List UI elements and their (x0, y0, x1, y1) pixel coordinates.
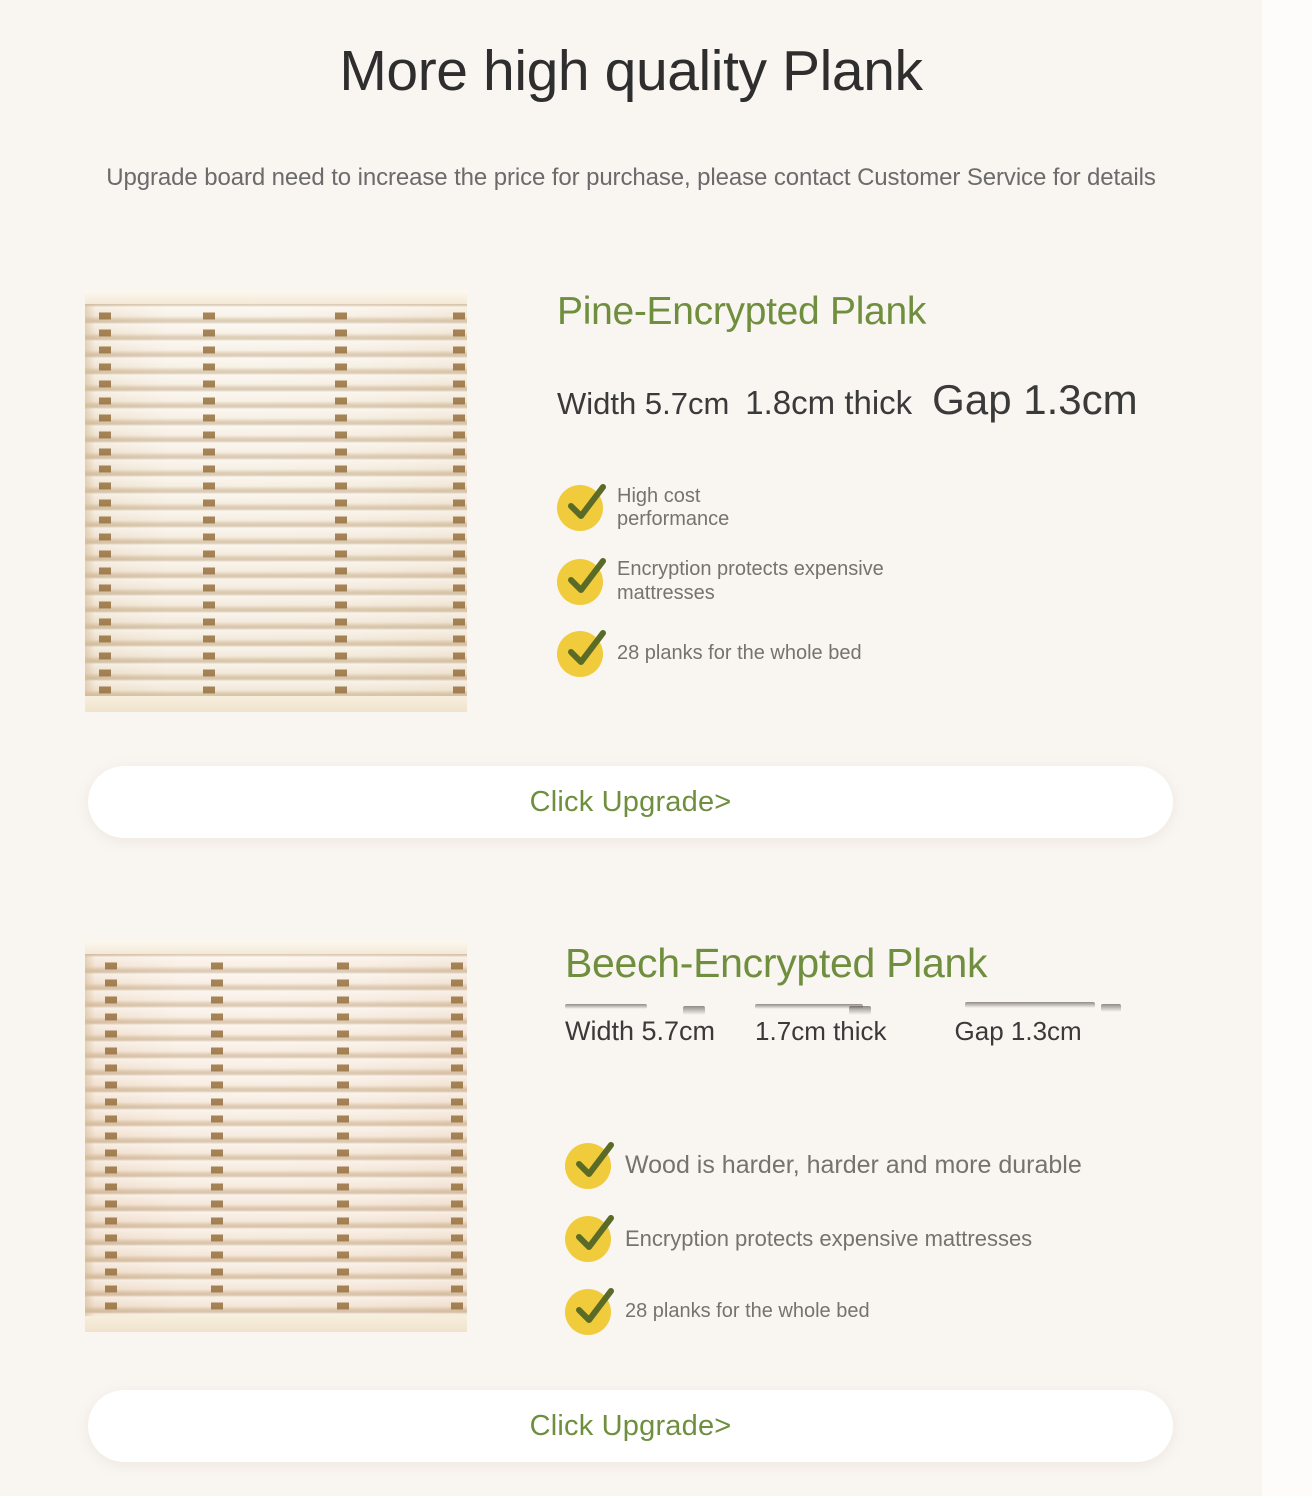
feature-list-beech: Wood is harder, harder and more durable … (565, 1143, 1265, 1335)
product-detail-page: More high quality Plank Upgrade board ne… (0, 0, 1312, 1496)
check-circle-icon (565, 1289, 611, 1335)
check-circle-icon (565, 1216, 611, 1262)
product-info-pine: Pine-Encrypted Plank Width 5.7cm 1.8cm t… (557, 290, 1257, 703)
plank-photo-beech (85, 940, 467, 1332)
spec-width: Width 5.7cm (565, 1016, 715, 1047)
spec-thickness: 1.8cm thick (745, 384, 912, 422)
spec-thickness: 1.7cm thick (755, 1016, 887, 1047)
plank-strap (451, 940, 463, 1332)
plank-bottom-edge (85, 1316, 467, 1332)
click-upgrade-button-beech[interactable]: Click Upgrade> (88, 1390, 1173, 1462)
feature-item: 28 planks for the whole bed (557, 631, 1257, 677)
plank-strap (337, 940, 349, 1332)
check-circle-icon (557, 631, 603, 677)
feature-item: Encryption protects expensive mattresses (557, 558, 1257, 605)
plank-left-edge (85, 940, 95, 1332)
product-info-beech: Beech-Encrypted Plank Width 5.7cm 1.7cm … (565, 940, 1265, 1362)
page-title: More high quality Plank (0, 40, 1262, 103)
product-title-beech: Beech-Encrypted Plank (565, 940, 1265, 987)
feature-item: Encryption protects expensive mattresses (565, 1216, 1265, 1262)
feature-text: High cost performance (617, 485, 767, 532)
check-circle-icon (557, 485, 603, 531)
spec-row-pine: Width 5.7cm 1.8cm thick Gap 1.3cm (557, 376, 1257, 424)
check-circle-icon (565, 1143, 611, 1189)
check-circle-icon (557, 559, 603, 605)
plank-slats (85, 290, 467, 712)
feature-item: 28 planks for the whole bed (565, 1289, 1265, 1335)
feature-text: Wood is harder, harder and more durable (625, 1151, 1082, 1181)
feature-text: 28 planks for the whole bed (625, 1300, 870, 1324)
plank-bottom-edge (85, 696, 467, 712)
feature-text: Encryption protects expensive mattresses (625, 1226, 1032, 1252)
spec-width: Width 5.7cm (557, 386, 729, 422)
plank-strap (99, 290, 111, 712)
plank-strap (335, 290, 347, 712)
page-subtitle: Upgrade board need to increase the price… (0, 164, 1262, 193)
spec-row-beech: Width 5.7cm 1.7cm thick Gap 1.3cm (565, 1016, 1265, 1047)
plank-left-edge (85, 290, 95, 712)
feature-text: Encryption protects expensive mattresses (617, 558, 917, 605)
spec-gap: Gap 1.3cm (955, 1016, 1082, 1047)
plank-slab (85, 290, 467, 712)
plank-top-edge (85, 940, 467, 954)
feature-item: High cost performance (557, 485, 1257, 532)
plank-strap (203, 290, 215, 712)
plank-photo-pine (85, 290, 467, 712)
plank-strap (453, 290, 465, 712)
feature-text: 28 planks for the whole bed (617, 642, 862, 666)
feature-list-pine: High cost performance Encryption protect… (557, 485, 1257, 677)
plank-slats (85, 940, 467, 1332)
plank-strap (211, 940, 223, 1332)
plank-slab (85, 940, 467, 1332)
page-right-margin (1262, 0, 1312, 1496)
click-upgrade-button-pine[interactable]: Click Upgrade> (88, 766, 1173, 838)
plank-top-edge (85, 290, 467, 304)
spec-gap: Gap 1.3cm (932, 376, 1137, 424)
product-title-pine: Pine-Encrypted Plank (557, 290, 1257, 335)
feature-item: Wood is harder, harder and more durable (565, 1143, 1265, 1189)
plank-strap (105, 940, 117, 1332)
